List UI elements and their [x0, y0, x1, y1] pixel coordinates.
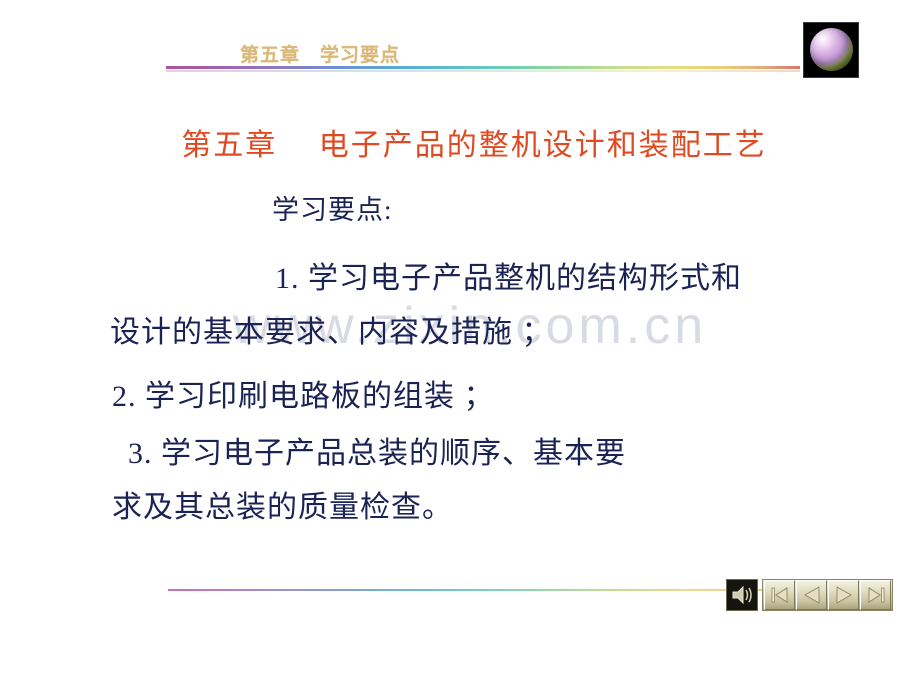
subtitle: 学习要点: — [272, 188, 393, 227]
body-line: 1. 学习电子产品整机的结构形式和 — [275, 253, 742, 297]
skip-forward-icon — [866, 586, 886, 604]
speaker-icon — [731, 585, 753, 605]
header-gradient-rule — [166, 66, 800, 69]
first-slide-button[interactable] — [764, 580, 795, 610]
nav-button-group — [762, 579, 893, 611]
sound-toggle-button[interactable] — [726, 579, 758, 611]
body-line: 求及其总装的质量检查。 — [112, 482, 453, 526]
sphere-logo — [803, 22, 859, 78]
header-gradient-rule-secondary — [166, 70, 800, 72]
presentation-slide: 第五章 学习要点 www.zixin.com.cn 第五章 电子产品的整机设计和… — [0, 0, 920, 690]
iridescent-sphere-icon — [810, 28, 853, 71]
previous-slide-button[interactable] — [796, 580, 827, 610]
body-line: 3. 学习电子产品总装的顺序、基本要 — [128, 428, 626, 472]
footer-gradient-rule — [168, 589, 805, 591]
body-line: 2. 学习印刷电路板的组装 ； — [112, 371, 495, 415]
slide-header-label: 第五章 学习要点 — [240, 40, 400, 67]
next-slide-button[interactable] — [828, 580, 859, 610]
triangle-left-icon — [802, 586, 822, 604]
body-line: 设计的基本要求、内容及措施 ； — [110, 307, 553, 351]
skip-back-icon — [770, 586, 790, 604]
page-title: 第五章 电子产品的整机设计和装配工艺 — [0, 120, 920, 164]
triangle-right-icon — [834, 586, 854, 604]
last-slide-button[interactable] — [860, 580, 891, 610]
slide-navigation-bar — [726, 579, 893, 611]
